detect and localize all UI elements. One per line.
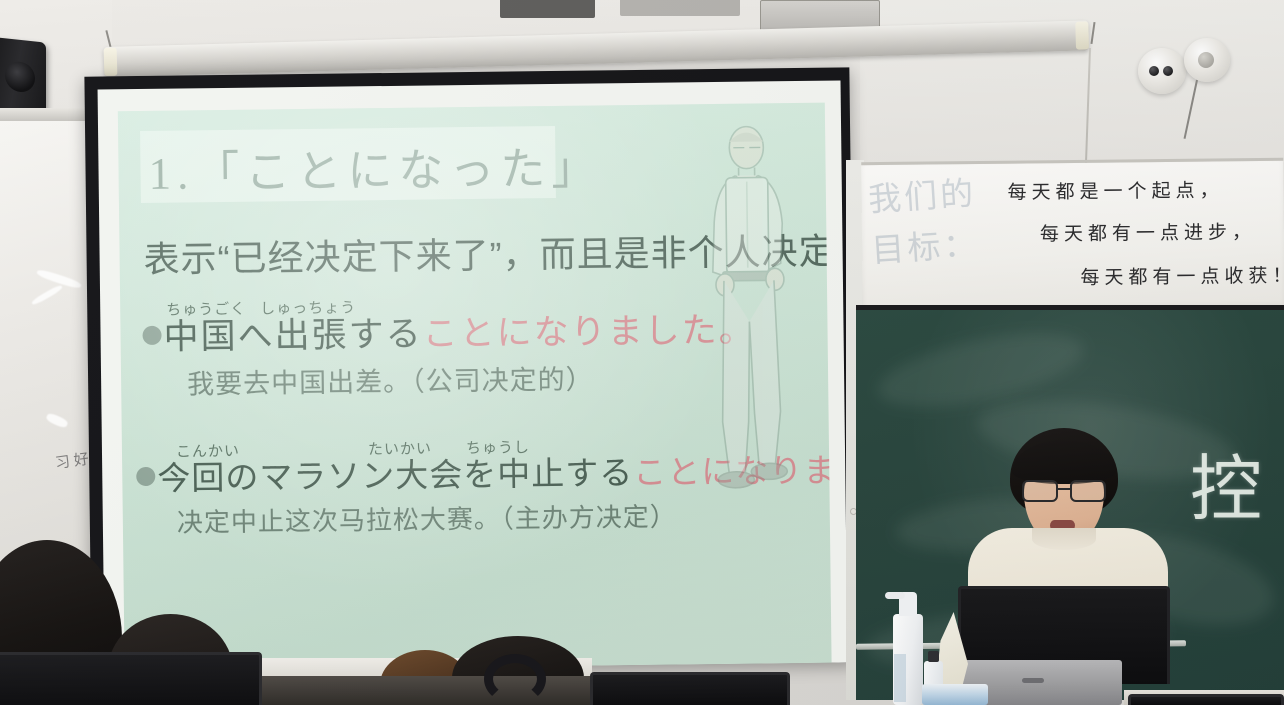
presentation-slide: 1.「ことになった」 表示“已经决定下来了”，而且是非个人决定。 ちゅうごく し… bbox=[118, 103, 832, 672]
sanitizer-label bbox=[894, 654, 906, 702]
whiteboard-scuff bbox=[31, 284, 63, 306]
bullet-dot-icon bbox=[142, 326, 161, 345]
slide-bullet-1: ちゅうごく しゅっちょう 中国へ出張することになりました。 我要去中国出差。（公… bbox=[142, 292, 756, 402]
whiteboard-line: 每天都有一点进步， bbox=[1040, 217, 1256, 246]
projection-screen: 1.「ことになった」 表示“已经决定下来了”，而且是非个人决定。 ちゅうごく し… bbox=[84, 67, 856, 671]
spray-cap bbox=[928, 651, 939, 662]
glasses-lens bbox=[1070, 480, 1106, 502]
camera-lens bbox=[1198, 52, 1214, 68]
whiteboard-line: 每天都有一点收获！ bbox=[1080, 261, 1284, 290]
ceiling-camera-right-icon bbox=[1184, 38, 1230, 82]
bullet-plain: 中国へ出張する bbox=[163, 315, 422, 357]
ceiling-camera-left-icon bbox=[1138, 48, 1186, 94]
glasses-lens bbox=[1022, 480, 1058, 502]
hand-sanitizer-bottle bbox=[893, 614, 923, 705]
furigana: ちゅうし bbox=[466, 436, 530, 458]
desk-monitor-left[interactable] bbox=[0, 652, 262, 705]
glasses-icon bbox=[1020, 480, 1110, 502]
foreground-desk bbox=[258, 676, 598, 705]
whiteboard-scuff bbox=[45, 412, 69, 429]
bullet-dot-icon bbox=[136, 467, 155, 486]
whiteboard-line: 每天都是一个起点， bbox=[1007, 175, 1223, 204]
roller-cap-right bbox=[1075, 21, 1089, 49]
slide-title: 1.「ことになった」 bbox=[148, 131, 603, 202]
bullet-translation: 我要去中国出差。（公司决定的） bbox=[187, 355, 756, 401]
right-whiteboard: 我们的 目标： 每天都是一个起点， 每天都有一点进步， 每天都有一点收获！ bbox=[861, 158, 1284, 312]
left-whiteboard-mark: 习 好 bbox=[54, 448, 90, 473]
speaker-cone bbox=[5, 60, 35, 93]
roller-cap-left bbox=[104, 48, 118, 76]
furigana: しゅっちょう bbox=[260, 296, 356, 318]
whiteboard-ghost-text: 我们的 目标： bbox=[867, 169, 981, 278]
glasses-bridge bbox=[1058, 488, 1072, 490]
ceiling-duct-light bbox=[620, 0, 740, 16]
over-ear-headphones-icon bbox=[484, 654, 546, 704]
camera-lens bbox=[1149, 66, 1159, 76]
student-collar bbox=[1032, 528, 1096, 550]
furigana: たいかい bbox=[368, 437, 432, 459]
standing-man-illustration-icon bbox=[683, 121, 818, 523]
sanitizer-nozzle bbox=[885, 592, 905, 599]
blue-wipes-box bbox=[922, 684, 988, 705]
camera-lens bbox=[1163, 66, 1173, 76]
blackboard-chalk-text: 控 bbox=[1190, 430, 1264, 535]
desk-monitor-center[interactable] bbox=[590, 672, 790, 705]
furigana: ちゅうごく bbox=[166, 298, 246, 320]
desk-monitor-right[interactable] bbox=[1128, 694, 1284, 705]
classroom-scene: 习 好 1.「ことになった」 表示“已经决定下来了”，而且是非个人决定。 ちゅう… bbox=[0, 0, 1284, 705]
ceiling-duct-dark bbox=[500, 0, 595, 18]
laptop-hinge bbox=[1022, 678, 1044, 683]
furigana: こんかい bbox=[176, 440, 240, 462]
screen-surface: 1.「ことになった」 表示“已经决定下来了”，而且是非个人决定。 ちゅうごく し… bbox=[98, 80, 848, 671]
